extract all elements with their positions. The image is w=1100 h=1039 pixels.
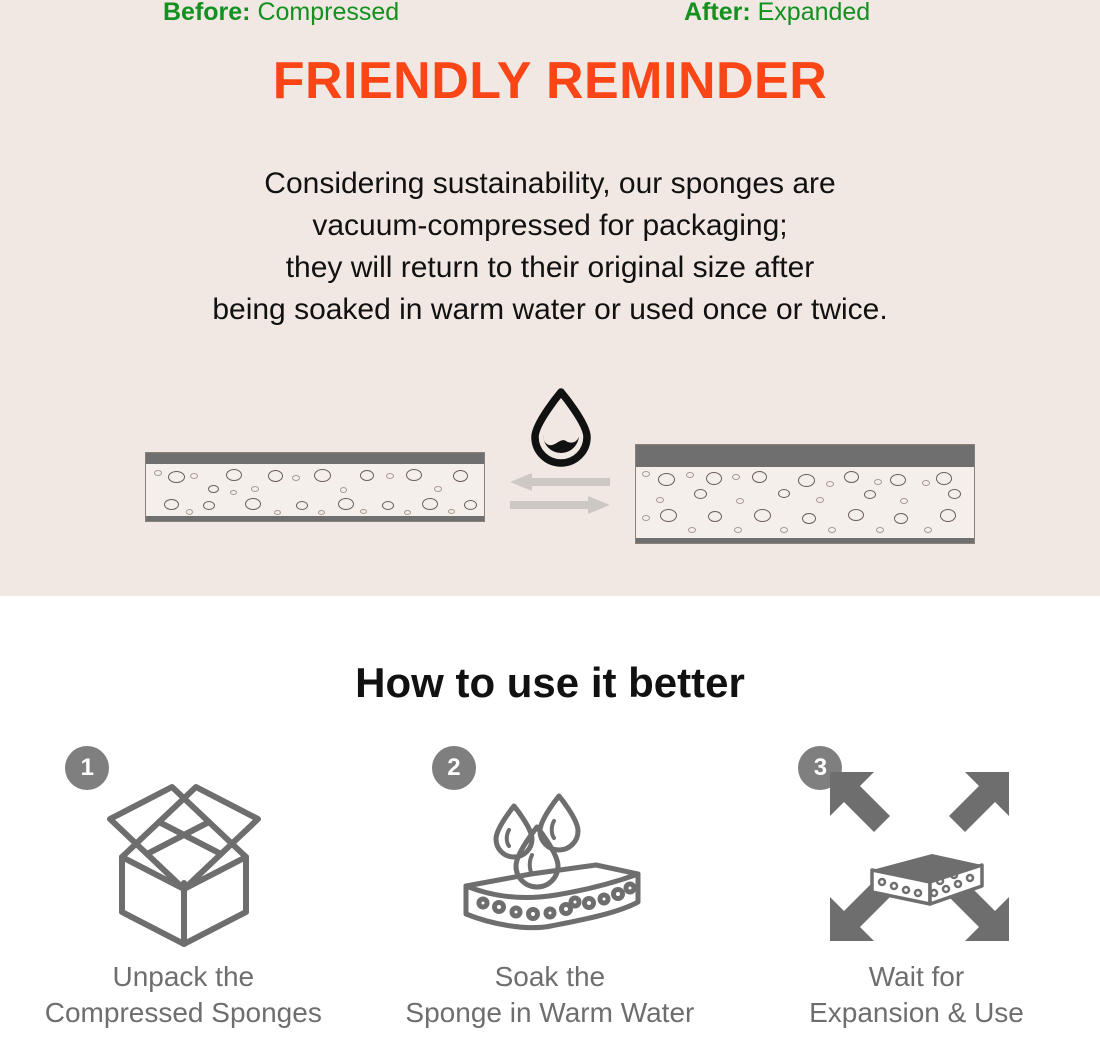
step-caption-line: Soak the xyxy=(405,959,694,995)
sponge-pore xyxy=(848,509,864,521)
sponge-pore xyxy=(780,527,788,533)
sponge-pore xyxy=(642,515,650,521)
reminder-body-line: being soaked in warm water or used once … xyxy=(0,289,1100,331)
sponge-pore xyxy=(686,472,694,478)
sponge-pore xyxy=(208,485,219,493)
sponge-pore xyxy=(732,474,740,480)
sponge-pore xyxy=(828,527,836,533)
step-item-3: 3 xyxy=(733,746,1100,1031)
arrow-left-icon xyxy=(510,473,610,496)
water-drop-icon xyxy=(528,388,594,473)
sponge-pore xyxy=(226,469,242,481)
sponge-pore xyxy=(940,509,956,522)
expanding-arrows-sponge-icon xyxy=(822,764,1017,954)
sponge-top-crust xyxy=(636,445,974,467)
sponge-pore xyxy=(245,498,261,510)
step-caption-line: Unpack the xyxy=(45,959,322,995)
how-to-use-section: How to use it better 1 xyxy=(0,596,1100,1039)
sponge-pore xyxy=(453,470,468,482)
step-caption-line: Compressed Sponges xyxy=(45,995,322,1031)
sponge-pore xyxy=(318,510,325,515)
step-item-1: 1 xyxy=(0,746,367,1031)
exchange-indicator xyxy=(510,388,615,518)
sponge-pore xyxy=(936,472,952,485)
sponge-pore xyxy=(844,471,859,483)
sponge-pore xyxy=(251,486,259,492)
before-label-value: Compressed xyxy=(251,0,400,26)
sponge-pore xyxy=(706,472,722,485)
sponge-pore xyxy=(656,497,664,503)
sponge-pore xyxy=(360,509,367,514)
sponge-pore xyxy=(752,471,767,483)
water-drops-on-sponge-icon xyxy=(456,764,651,954)
sponge-pore xyxy=(734,527,742,533)
howto-title: How to use it better xyxy=(0,662,1100,704)
sponge-bottom-crust xyxy=(636,538,974,543)
sponge-pore xyxy=(924,527,932,533)
page-title: FRIENDLY REMINDER xyxy=(0,55,1100,107)
sponge-pore xyxy=(168,471,185,483)
after-label-value: Expanded xyxy=(751,0,871,26)
sponge-pore xyxy=(422,498,438,510)
sponge-pore xyxy=(203,501,215,510)
step-caption-line: Wait for xyxy=(809,959,1024,995)
before-label-lead: Before: xyxy=(163,0,251,26)
reminder-body-line: Considering sustainability, our sponges … xyxy=(0,163,1100,205)
steps-list: 1 xyxy=(0,746,1100,1031)
sponge-pore xyxy=(894,513,908,524)
sponge-pore xyxy=(802,513,816,524)
sponge-pore xyxy=(900,498,908,504)
step-graphic: 1 xyxy=(63,746,303,951)
step-caption: Soak the Sponge in Warm Water xyxy=(405,959,694,1031)
step-caption-line: Sponge in Warm Water xyxy=(405,995,694,1031)
sponge-pore xyxy=(404,510,411,515)
sponge-pore xyxy=(658,473,675,486)
step-caption-line: Expansion & Use xyxy=(809,995,1024,1031)
sponge-pore xyxy=(876,527,884,533)
sponge-pore xyxy=(268,470,283,482)
sponge-pore xyxy=(464,500,477,510)
sponge-pore xyxy=(948,489,961,499)
sponge-bottom-crust xyxy=(146,516,484,521)
sponge-pore xyxy=(386,473,394,479)
sponge-pore xyxy=(274,510,281,515)
reminder-body-line: they will return to their original size … xyxy=(0,247,1100,289)
sponge-pore xyxy=(660,509,677,522)
sponge-pore xyxy=(230,490,237,495)
sponge-pore xyxy=(688,527,696,533)
sponge-pore xyxy=(434,486,442,492)
reminder-body-line: vacuum-compressed for packaging; xyxy=(0,205,1100,247)
sponge-pore xyxy=(340,487,347,493)
sponge-pore xyxy=(826,481,834,487)
sponge-pore xyxy=(406,469,422,481)
sponge-pore xyxy=(360,470,374,481)
reminder-body-text: Considering sustainability, our sponges … xyxy=(0,163,1100,331)
sponge-pore xyxy=(292,475,300,481)
step-caption: Unpack the Compressed Sponges xyxy=(45,959,322,1031)
sponge-pore xyxy=(154,470,162,476)
arrow-right-icon xyxy=(510,496,610,519)
sponge-pore xyxy=(296,501,308,510)
expanded-sponge-illustration xyxy=(635,444,975,544)
sponge-pore xyxy=(874,479,882,485)
sponge-pore xyxy=(694,489,707,499)
sponge-pore xyxy=(864,490,876,499)
sponge-pore xyxy=(186,509,193,515)
sponge-pore xyxy=(816,497,824,503)
sponge-pore xyxy=(338,498,354,510)
product-infographic: FRIENDLY REMINDER Considering sustainabi… xyxy=(0,0,1100,1039)
sponge-pore xyxy=(890,474,906,486)
sponge-pore xyxy=(190,473,198,479)
after-label-lead: After: xyxy=(684,0,751,26)
sponge-pore xyxy=(382,501,394,510)
before-label: Before: Compressed xyxy=(163,0,399,25)
step-item-2: 2 xyxy=(367,746,734,1031)
step-graphic: 2 xyxy=(430,746,670,951)
sponge-pore xyxy=(798,474,815,487)
sponge-pore xyxy=(736,498,744,504)
compressed-sponge-illustration xyxy=(145,452,485,522)
step-caption: Wait for Expansion & Use xyxy=(809,959,1024,1031)
open-box-icon xyxy=(89,764,279,954)
after-label: After: Expanded xyxy=(684,0,870,25)
sponge-pore xyxy=(754,509,771,522)
sponge-pore xyxy=(642,471,650,477)
friendly-reminder-section: FRIENDLY REMINDER Considering sustainabi… xyxy=(0,0,1100,596)
sponge-pore xyxy=(922,480,930,486)
sponge-top-crust xyxy=(146,453,484,464)
sponge-pore xyxy=(778,489,790,498)
sponge-pore xyxy=(164,499,179,510)
sponge-pore xyxy=(708,511,722,522)
step-graphic: 3 xyxy=(796,746,1036,951)
sponge-pore xyxy=(448,509,455,514)
sponge-pore xyxy=(314,469,331,482)
